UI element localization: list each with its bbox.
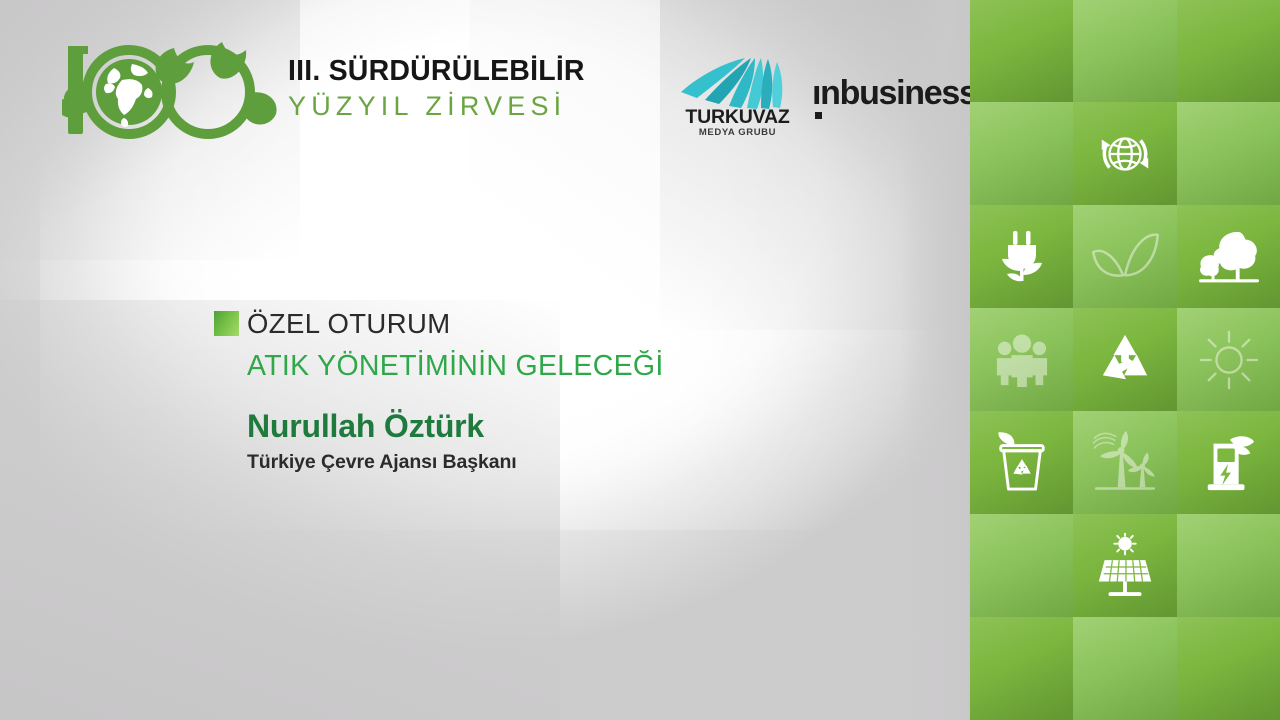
mosaic-tile-globe-recycle bbox=[1073, 102, 1177, 205]
green-square-bullet bbox=[214, 311, 239, 336]
mosaic-tile-tree bbox=[1177, 205, 1280, 308]
turkuvaz-subtitle: MEDYA GRUBU bbox=[675, 128, 800, 138]
summit-100-logo bbox=[62, 36, 292, 144]
mosaic-tile-empty bbox=[1177, 514, 1280, 617]
speaker-role: Türkiye Çevre Ajansı Başkanı bbox=[247, 453, 934, 473]
eco-icon-mosaic bbox=[970, 0, 1280, 720]
tree-icon bbox=[1197, 228, 1261, 286]
session-kicker-label: ÖZEL OTURUM bbox=[247, 308, 451, 339]
mosaic-tile-empty bbox=[1073, 0, 1177, 102]
mosaic-tile-empty bbox=[1073, 617, 1177, 720]
globe-recycle-icon bbox=[1094, 123, 1156, 185]
solar-panel-icon bbox=[1093, 533, 1157, 599]
summit-title-line2: YÜZYIL ZİRVESİ bbox=[288, 93, 608, 120]
plug-leaf-icon bbox=[994, 227, 1050, 287]
recycle-bin-leaf-icon bbox=[993, 432, 1051, 494]
mosaic-tile-empty bbox=[970, 102, 1073, 205]
summit-title: III. SÜRDÜRÜLEBİLİR YÜZYIL ZİRVESİ bbox=[288, 57, 608, 120]
mosaic-tile-empty bbox=[1177, 617, 1280, 720]
leaves-icon bbox=[1090, 231, 1160, 283]
mosaic-tile-empty bbox=[1177, 0, 1280, 102]
mosaic-tile-recycle bbox=[1073, 308, 1177, 411]
speaker-name: Nurullah Öztürk bbox=[247, 410, 934, 442]
inbusiness-wordmark: ınbusiness bbox=[812, 76, 977, 110]
summit-title-line1: III. SÜRDÜRÜLEBİLİR bbox=[288, 57, 608, 86]
sun-icon bbox=[1199, 330, 1259, 390]
session-kicker: ÖZEL OTURUM bbox=[214, 310, 934, 338]
mosaic-tile-empty bbox=[970, 0, 1073, 102]
mosaic-tile-leaves bbox=[1073, 205, 1177, 308]
ev-charger-leaf-icon bbox=[1200, 432, 1258, 494]
people-group-icon bbox=[993, 333, 1051, 387]
mosaic-tile-solar-panel bbox=[1073, 514, 1177, 617]
presentation-slide: III. SÜRDÜRÜLEBİLİR YÜZYIL ZİRVESİ TURKU… bbox=[0, 0, 1280, 720]
inbusiness-dot-mark bbox=[815, 112, 822, 119]
mosaic-tile-wind-turbine bbox=[1073, 411, 1177, 514]
mosaic-tile-empty bbox=[1177, 102, 1280, 205]
mosaic-tile-people bbox=[970, 308, 1073, 411]
mosaic-tile-empty bbox=[970, 617, 1073, 720]
recycle-icon bbox=[1096, 333, 1154, 387]
mosaic-tile-plug-leaf bbox=[970, 205, 1073, 308]
wind-turbine-icon bbox=[1091, 431, 1159, 495]
mosaic-tile-ev-charger bbox=[1177, 411, 1280, 514]
mosaic-tile-sun bbox=[1177, 308, 1280, 411]
mosaic-tile-recycle-bin bbox=[970, 411, 1073, 514]
session-info: ÖZEL OTURUM ATIK YÖNETİMİNİN GELECEĞİ Nu… bbox=[214, 310, 934, 473]
turkuvaz-wordmark: TURKUVAZ bbox=[675, 108, 800, 128]
session-topic: ATIK YÖNETİMİNİN GELECEĞİ bbox=[247, 352, 934, 381]
mosaic-tile-empty bbox=[970, 514, 1073, 617]
